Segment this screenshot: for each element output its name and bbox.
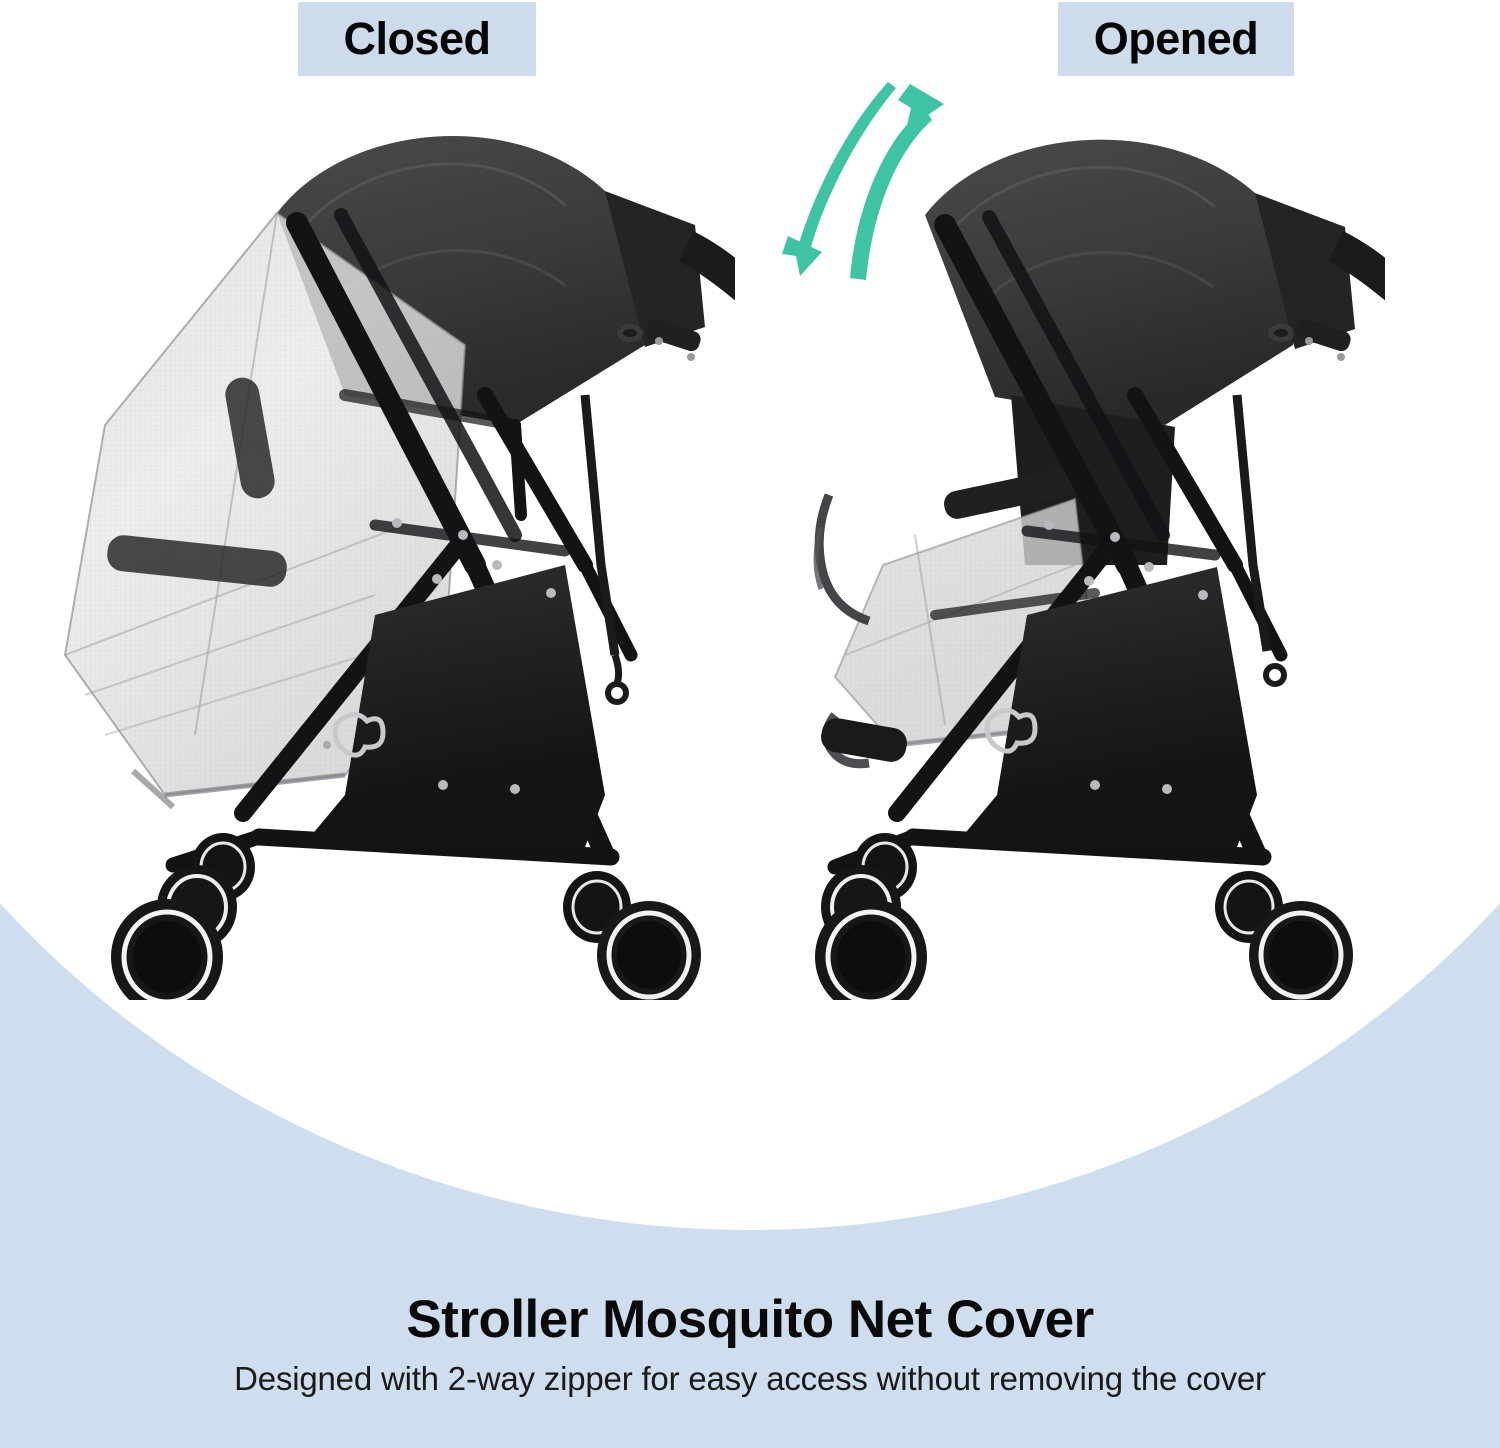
- product-title: Stroller Mosquito Net Cover: [0, 1292, 1500, 1348]
- caption-block: Stroller Mosquito Net Cover Designed wit…: [0, 1292, 1500, 1398]
- tether-strap: [585, 395, 626, 702]
- rear-wheels-opened: [1215, 871, 1353, 1000]
- product-image-canvas: Closed Opened Stroller Mosquito Net Cove…: [0, 0, 1500, 1448]
- canopy-opened: [925, 140, 1355, 425]
- stroller-with-net-closed: [45, 95, 735, 1000]
- product-subtitle: Designed with 2-way zipper for easy acce…: [0, 1360, 1500, 1398]
- open-close-arrows: [778, 70, 978, 300]
- front-wheels-opened: [815, 833, 927, 1000]
- state-badge-opened: Opened: [1058, 2, 1294, 76]
- state-badge-closed: Closed: [298, 2, 536, 76]
- rear-wheels-closed: [563, 871, 701, 1000]
